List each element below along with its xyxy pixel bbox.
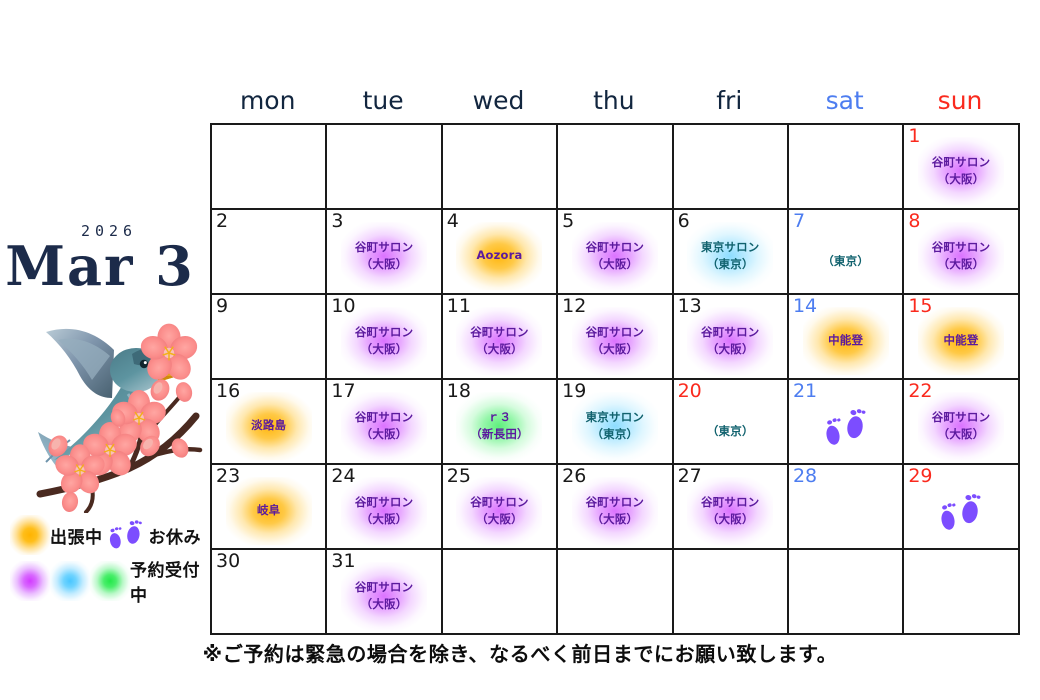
calendar-week-row: 23谷町サロン （大阪）4Aozora5谷町サロン （大阪）6東京サロン （東京… <box>212 210 1020 295</box>
calendar-day-cell-28[interactable]: 28 <box>789 465 904 550</box>
event-label: 谷町サロン （大阪） <box>932 409 991 442</box>
calendar-week-row: 1谷町サロン （大阪） <box>212 125 1020 210</box>
day-event[interactable]: 東京サロン （東京） <box>678 221 782 291</box>
calendar-day-cell-23[interactable]: 23岐阜 <box>212 465 327 550</box>
day-event[interactable]: 谷町サロン （大阪） <box>678 476 782 546</box>
calendar-week-row: 910谷町サロン （大阪）11谷町サロン （大阪）12谷町サロン （大阪）13谷… <box>212 295 1020 380</box>
event-label: 谷町サロン （大阪） <box>932 154 991 187</box>
calendar-day-cell-empty <box>212 125 327 210</box>
day-event[interactable]: 谷町サロン （大阪） <box>909 136 1013 206</box>
day-event[interactable] <box>909 476 1013 546</box>
left-panel: 2026 Mar 3 <box>0 0 210 700</box>
blue-blob-icon <box>50 561 90 601</box>
calendar-day-cell-21[interactable]: 21 <box>789 380 904 465</box>
legend: 出張中 お休み <box>10 512 210 604</box>
event-label: 谷町サロン （大阪） <box>586 324 645 357</box>
day-event[interactable]: 谷町サロン （大阪） <box>332 221 436 291</box>
event-label: 谷町サロン （大阪） <box>701 494 760 527</box>
calendar-day-cell-27[interactable]: 27谷町サロン （大阪） <box>674 465 789 550</box>
day-event[interactable]: （東京） <box>794 226 898 296</box>
day-event[interactable]: 中能登 <box>794 306 898 376</box>
event-label: 谷町サロン （大阪） <box>701 324 760 357</box>
day-event[interactable]: 谷町サロン （大阪） <box>909 221 1013 291</box>
event-label: 谷町サロン （大阪） <box>932 239 991 272</box>
day-number: 2 <box>216 211 228 233</box>
calendar-grid: 1谷町サロン （大阪）23谷町サロン （大阪）4Aozora5谷町サロン （大阪… <box>210 123 1020 635</box>
calendar-day-cell-15[interactable]: 15中能登 <box>904 295 1019 380</box>
calendar-day-cell-7[interactable]: 7（東京） <box>789 210 904 295</box>
calendar-day-cell-1[interactable]: 1谷町サロン （大阪） <box>904 125 1019 210</box>
event-label: ｒ３ （新長田） <box>470 409 529 442</box>
day-event[interactable]: 谷町サロン （大阪） <box>563 306 667 376</box>
weekday-header-mon: mon <box>210 88 325 122</box>
green-blob-icon <box>90 561 130 601</box>
day-event[interactable]: （東京） <box>678 396 782 466</box>
day-event[interactable]: 淡路島 <box>217 391 321 461</box>
event-label: Aozora <box>476 247 522 264</box>
day-event[interactable]: 谷町サロン （大阪） <box>447 306 551 376</box>
calendar-day-cell-13[interactable]: 13谷町サロン （大阪） <box>674 295 789 380</box>
calendar-day-cell-12[interactable]: 12谷町サロン （大阪） <box>558 295 673 380</box>
day-event[interactable]: 谷町サロン （大阪） <box>447 476 551 546</box>
calendar-day-cell-4[interactable]: 4Aozora <box>443 210 558 295</box>
legend-label-accepting-reservations: 予約受付中 <box>130 556 210 606</box>
event-label: 岐阜 <box>257 502 280 519</box>
calendar-day-cell-14[interactable]: 14中能登 <box>789 295 904 380</box>
weekday-header-sat: sat <box>787 88 902 122</box>
calendar-day-cell-empty <box>443 125 558 210</box>
event-label: 中能登 <box>828 332 863 349</box>
calendar-day-cell-2[interactable]: 2 <box>212 210 327 295</box>
day-event[interactable]: 谷町サロン （大阪） <box>332 476 436 546</box>
weekday-header-sun: sun <box>902 88 1017 122</box>
day-event[interactable]: 谷町サロン （大阪） <box>332 391 436 461</box>
event-label: 谷町サロン （大阪） <box>470 494 529 527</box>
calendar-day-cell-empty <box>789 125 904 210</box>
footprints-icon <box>103 515 149 555</box>
calendar-day-cell-empty <box>674 125 789 210</box>
day-event[interactable]: 谷町サロン （大阪） <box>678 306 782 376</box>
event-label: 谷町サロン （大阪） <box>355 324 414 357</box>
legend-label-business-trip: 出張中 <box>50 523 103 548</box>
calendar-day-cell-empty <box>558 550 673 635</box>
calendar-day-cell-22[interactable]: 22谷町サロン （大阪） <box>904 380 1019 465</box>
day-number: 28 <box>793 466 817 488</box>
calendar-week-row: 23岐阜24谷町サロン （大阪）25谷町サロン （大阪）26谷町サロン （大阪）… <box>212 465 1020 550</box>
footer-note: ※ご予約は緊急の場合を除き、なるべく前日までにお願い致します。 <box>0 638 1040 667</box>
calendar-day-cell-3[interactable]: 3谷町サロン （大阪） <box>327 210 442 295</box>
day-event[interactable]: 谷町サロン （大阪） <box>332 306 436 376</box>
legend-row-business-trip: 出張中 お休み <box>10 512 210 558</box>
calendar-day-cell-empty <box>443 550 558 635</box>
purple-blob-icon <box>10 561 50 601</box>
day-event[interactable]: Aozora <box>447 221 551 291</box>
day-number: 30 <box>216 551 240 573</box>
calendar-day-cell-17[interactable]: 17谷町サロン （大阪） <box>327 380 442 465</box>
calendar-day-cell-11[interactable]: 11谷町サロン （大阪） <box>443 295 558 380</box>
day-event[interactable]: 谷町サロン （大阪） <box>563 221 667 291</box>
event-label: 東京サロン （東京） <box>701 239 760 272</box>
weekday-header-fri: fri <box>672 88 787 122</box>
calendar-day-cell-empty <box>789 550 904 635</box>
weekday-header-thu: thu <box>556 88 671 122</box>
calendar-day-cell-18[interactable]: 18ｒ３ （新長田） <box>443 380 558 465</box>
event-label: 淡路島 <box>251 417 286 434</box>
event-label: 谷町サロン （大阪） <box>355 494 414 527</box>
footprints-icon <box>933 489 989 535</box>
calendar-week-row: 3031谷町サロン （大阪） <box>212 550 1020 635</box>
calendar-day-cell-10[interactable]: 10谷町サロン （大阪） <box>327 295 442 380</box>
event-label: 谷町サロン （大阪） <box>355 239 414 272</box>
day-event[interactable]: 谷町サロン （大阪） <box>909 391 1013 461</box>
calendar-day-cell-8[interactable]: 8谷町サロン （大阪） <box>904 210 1019 295</box>
calendar-day-cell-20[interactable]: 20（東京） <box>674 380 789 465</box>
footprints-icon <box>818 404 874 450</box>
month-label: Mar 3 <box>0 238 200 295</box>
day-event[interactable]: ｒ３ （新長田） <box>447 391 551 461</box>
calendar-day-cell-9[interactable]: 9 <box>212 295 327 380</box>
calendar-day-cell-16[interactable]: 16淡路島 <box>212 380 327 465</box>
calendar-day-cell-19[interactable]: 19東京サロン （東京） <box>558 380 673 465</box>
event-label: 東京サロン （東京） <box>586 409 645 442</box>
weekday-header-tue: tue <box>325 88 440 122</box>
event-label: 谷町サロン （大阪） <box>586 494 645 527</box>
calendar-day-cell-24[interactable]: 24谷町サロン （大阪） <box>327 465 442 550</box>
orange-blob-icon <box>10 515 50 555</box>
calendar-day-cell-6[interactable]: 6東京サロン （東京） <box>674 210 789 295</box>
swallow-cherry-blossom-illustration <box>32 298 217 513</box>
calendar-day-cell-29[interactable]: 29 <box>904 465 1019 550</box>
day-number: 9 <box>216 296 228 318</box>
calendar-day-cell-empty <box>904 550 1019 635</box>
day-event[interactable]: 谷町サロン （大阪） <box>332 561 436 631</box>
calendar-day-cell-5[interactable]: 5谷町サロン （大阪） <box>558 210 673 295</box>
calendar-day-cell-31[interactable]: 31谷町サロン （大阪） <box>327 550 442 635</box>
event-label: 中能登 <box>943 332 978 349</box>
event-label: 谷町サロン （大阪） <box>470 324 529 357</box>
day-event[interactable]: 岐阜 <box>217 476 321 546</box>
day-event[interactable]: 中能登 <box>909 306 1013 376</box>
event-label: （東京） <box>822 253 869 270</box>
calendar-day-cell-26[interactable]: 26谷町サロン （大阪） <box>558 465 673 550</box>
event-label: 谷町サロン （大阪） <box>355 409 414 442</box>
month-title-block: 2026 Mar 3 <box>0 222 200 295</box>
day-event[interactable]: 東京サロン （東京） <box>563 391 667 461</box>
calendar-day-cell-empty <box>327 125 442 210</box>
day-event[interactable]: 谷町サロン （大阪） <box>563 476 667 546</box>
calendar-week-row: 16淡路島17谷町サロン （大阪）18ｒ３ （新長田）19東京サロン （東京）2… <box>212 380 1020 465</box>
calendar-day-cell-25[interactable]: 25谷町サロン （大阪） <box>443 465 558 550</box>
legend-row-reservations: 予約受付中 <box>10 558 210 604</box>
calendar-day-cell-30[interactable]: 30 <box>212 550 327 635</box>
calendar-day-cell-empty <box>558 125 673 210</box>
legend-label-day-off: お休み <box>149 523 202 548</box>
weekday-header-row: montuewedthufrisatsun <box>210 88 1018 122</box>
event-label: 谷町サロン （大阪） <box>355 579 414 612</box>
calendar-day-cell-empty <box>674 550 789 635</box>
event-label: 谷町サロン （大阪） <box>586 239 645 272</box>
day-event[interactable] <box>794 391 898 461</box>
weekday-header-wed: wed <box>441 88 556 122</box>
event-label: （東京） <box>707 423 754 440</box>
calendar: montuewedthufrisatsun 1谷町サロン （大阪）23谷町サロン… <box>210 88 1020 635</box>
